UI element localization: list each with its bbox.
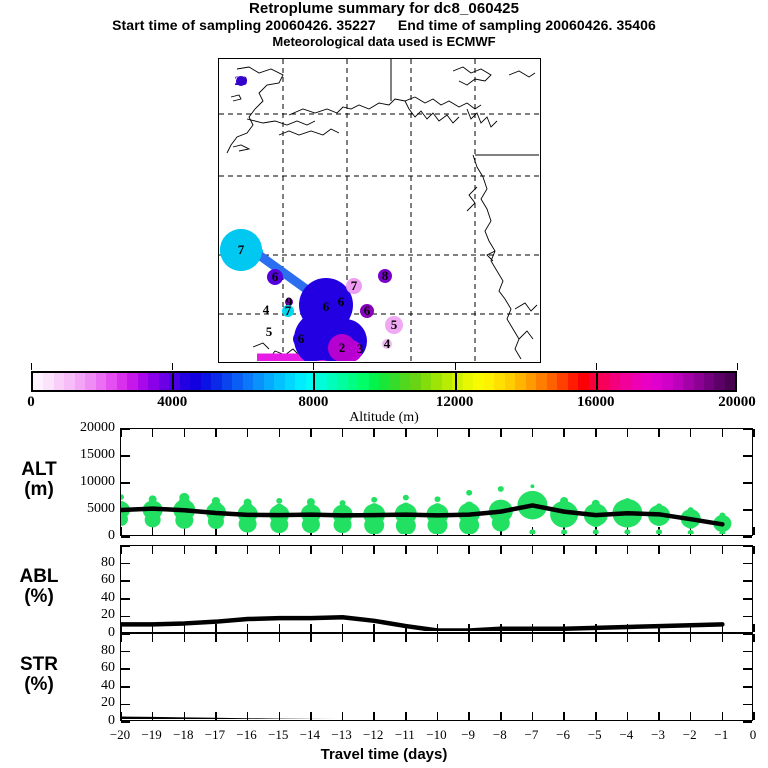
colorbar-swatch: [106, 373, 116, 390]
colorbar-swatch: [389, 373, 399, 390]
x-tick-label: −1: [714, 727, 728, 743]
colorbar-tick-label: 16000: [577, 394, 615, 411]
y-tick: [121, 536, 130, 538]
colorbar-swatch: [96, 373, 106, 390]
x-tick-label: −11: [395, 727, 415, 743]
colorbar-swatch: [421, 373, 431, 390]
alt-scatter-point: [656, 529, 662, 534]
colorbar-swatch: [43, 373, 53, 390]
panel-abl[interactable]: [120, 545, 753, 633]
colorbar-swatch: [473, 373, 483, 390]
alt-scatter-point: [530, 484, 534, 488]
x-tick-label: −14: [300, 727, 320, 743]
x-axis-title: Travel time (days): [0, 746, 768, 763]
alt-scatter-point: [276, 498, 282, 504]
panel-name: ABL: [6, 567, 72, 587]
y-tick: [121, 721, 130, 723]
alt-scatter-point: [688, 530, 694, 534]
colorbar-swatch: [442, 373, 452, 390]
alt-scatter-point: [334, 516, 352, 533]
alt-scatter-point: [492, 514, 510, 531]
colorbar-swatch: [704, 373, 714, 390]
header: Retroplume summary for dc8_060425 Start …: [0, 0, 768, 49]
panel-name: STR: [6, 655, 72, 675]
colorbar-swatch: [536, 373, 546, 390]
colorbar-swatch: [694, 373, 704, 390]
x-tick-label: −7: [525, 727, 539, 743]
map-marker-label: 6: [364, 303, 371, 318]
colorbar-swatch: [379, 373, 389, 390]
alt-scatter-point: [270, 516, 288, 533]
x-tick-label: −10: [426, 727, 446, 743]
end-time-label: End time of sampling 20060426. 35406: [398, 17, 656, 33]
y-tick-right: [743, 536, 752, 538]
colorbar-swatch: [264, 373, 274, 390]
colorbar-swatch: [410, 373, 420, 390]
colorbar-swatch: [369, 373, 379, 390]
colorbar-tick: [172, 363, 173, 370]
colorbar-divider: [596, 371, 598, 392]
panel-unit: (m): [6, 480, 72, 500]
colorbar-swatch: [358, 373, 368, 390]
colorbar-swatch: [316, 373, 326, 390]
x-tick: [753, 527, 755, 535]
panel-plot: [121, 429, 751, 534]
colorbar-tick: [737, 363, 738, 370]
y-tick-label: 20: [0, 695, 115, 711]
colorbar-swatch: [505, 373, 515, 390]
map-marker-label: 5: [266, 324, 273, 339]
x-tick-label: −2: [683, 727, 697, 743]
x-tick-label: −4: [619, 727, 633, 743]
map-marker-label: 20: [235, 73, 248, 88]
colorbar-swatch: [159, 373, 169, 390]
panel-alt[interactable]: [120, 428, 753, 536]
colorbar-tick-label: 4000: [157, 394, 187, 411]
colorbar-swatch: [348, 373, 358, 390]
y-tick-label: 20: [0, 607, 115, 623]
colorbar-swatch: [599, 373, 609, 390]
map-marker-label: 4: [384, 336, 391, 351]
panel-plot: [121, 634, 751, 719]
colorbar-swatch: [673, 373, 683, 390]
series-line: [121, 718, 722, 719]
colorbar-swatch: [463, 373, 473, 390]
x-tick-label: 0: [750, 727, 757, 743]
map-marker-label: 7: [238, 242, 245, 257]
alt-scatter-point: [561, 529, 567, 534]
map-marker-label: 6: [272, 269, 279, 284]
series-line: [121, 617, 722, 630]
x-tick-label: −17: [205, 727, 225, 743]
colorbar-tick: [313, 363, 314, 370]
map-marker-label: 6: [338, 294, 345, 309]
colorbar-swatch: [75, 373, 85, 390]
colorbar-swatch: [610, 373, 620, 390]
map-marker-label: 5: [391, 317, 398, 332]
alt-scatter-point: [364, 516, 384, 534]
colorbar-tick: [596, 363, 597, 370]
panel-name: ALT: [6, 460, 72, 480]
alt-scatter-point: [239, 515, 257, 532]
colorbar-swatch: [484, 373, 494, 390]
retroplume-map[interactable]: 2076974566876546321: [218, 58, 541, 363]
colorbar-swatch: [662, 373, 672, 390]
map-marker-label: 6: [323, 299, 330, 314]
y-tick-right: [743, 721, 752, 723]
colorbar-swatch: [274, 373, 284, 390]
alt-scatter-point: [529, 529, 535, 534]
altitude-colorbar: [31, 371, 737, 392]
x-tick-label: −16: [236, 727, 256, 743]
x-tick-label: −18: [173, 727, 193, 743]
colorbar-swatch: [64, 373, 74, 390]
y-tick-label: 5000: [0, 501, 115, 517]
colorbar-divider: [172, 371, 174, 392]
map-marker-label: 4: [263, 302, 270, 317]
colorbar-swatch: [138, 373, 148, 390]
map-marker-label: 2: [339, 340, 346, 355]
colorbar-swatch: [222, 373, 232, 390]
colorbar-swatch: [568, 373, 578, 390]
y-tick-label: 0: [0, 625, 115, 641]
alt-scatter-point: [593, 529, 599, 534]
alt-scatter-point: [208, 514, 224, 529]
alt-scatter-point: [428, 516, 448, 534]
colorbar-swatch: [400, 373, 410, 390]
colorbar-swatch: [148, 373, 158, 390]
alt-scatter-point: [371, 497, 377, 503]
alt-scatter-point: [435, 496, 441, 502]
panel-label-str: STR(%): [6, 655, 72, 695]
colorbar-swatch: [631, 373, 641, 390]
colorbar-swatch: [725, 373, 735, 390]
y-tick-label: 0: [0, 528, 115, 544]
colorbar-swatch: [201, 373, 211, 390]
colorbar-swatch: [547, 373, 557, 390]
colorbar-swatch: [295, 373, 305, 390]
colorbar-tick-label: 12000: [436, 394, 474, 411]
colorbar-swatch: [714, 373, 724, 390]
colorbar-title: Altitude (m): [0, 410, 768, 426]
colorbar-swatch: [117, 373, 127, 390]
colorbar-swatch: [494, 373, 504, 390]
map-marker-label: 8: [382, 268, 389, 283]
colorbar-swatch: [683, 373, 693, 390]
alt-scatter-point: [145, 512, 161, 527]
x-tick-top: [753, 429, 755, 437]
colorbar-swatch: [327, 373, 337, 390]
panel-unit: (%): [6, 675, 72, 695]
alt-scatter-point: [403, 495, 409, 501]
colorbar-swatch: [337, 373, 347, 390]
x-tick: [753, 624, 755, 632]
colorbar-swatch: [180, 373, 190, 390]
colorbar-divider: [313, 371, 315, 392]
alt-scatter-point: [175, 512, 193, 529]
colorbar-swatch: [33, 373, 43, 390]
panel-label-alt: ALT(m): [6, 460, 72, 500]
colorbar-tick-label: 0: [27, 394, 35, 411]
met-data-label: Meteorological data used is ECMWF: [0, 34, 768, 49]
alt-scatter-point: [466, 490, 472, 496]
panel-label-abl: ABL(%): [6, 567, 72, 607]
colorbar-swatch: [253, 373, 263, 390]
colorbar-swatch: [211, 373, 221, 390]
x-tick-label: −6: [556, 727, 570, 743]
colorbar-swatch: [431, 373, 441, 390]
page-title: Retroplume summary for dc8_060425: [0, 0, 768, 17]
colorbar-swatch: [557, 373, 567, 390]
panel-str[interactable]: [120, 633, 753, 721]
colorbar-swatch: [641, 373, 651, 390]
x-tick-label: −20: [110, 727, 130, 743]
x-tick-label: −5: [588, 727, 602, 743]
colorbar-tick-label: 20000: [718, 394, 756, 411]
x-tick-top: [753, 546, 755, 554]
panel-unit: (%): [6, 587, 72, 607]
alt-scatter-point: [302, 516, 320, 533]
colorbar-swatch: [127, 373, 137, 390]
alt-scatter-point: [498, 486, 504, 492]
y-tick-label: 20000: [0, 420, 115, 436]
alt-scatter-point: [624, 529, 630, 534]
y-tick-label: 0: [0, 713, 115, 729]
colorbar-tick: [455, 363, 456, 370]
alt-scatter-point: [459, 516, 479, 534]
colorbar-swatch: [620, 373, 630, 390]
x-tick-label: −19: [141, 727, 161, 743]
colorbar-swatch: [578, 373, 588, 390]
x-tick-label: −12: [363, 727, 383, 743]
map-marker-label: 7: [285, 303, 292, 318]
alt-scatter-point: [121, 494, 124, 500]
colorbar-swatch: [515, 373, 525, 390]
x-tick-label: −13: [331, 727, 351, 743]
panel-plot: [121, 546, 751, 631]
x-tick-top: [753, 634, 755, 642]
colorbar-swatch: [652, 373, 662, 390]
start-time-label: Start time of sampling 20060426. 35227: [112, 17, 376, 33]
x-tick-label: −3: [651, 727, 665, 743]
colorbar-swatch: [526, 373, 536, 390]
colorbar-swatch: [54, 373, 64, 390]
colorbar-swatch: [190, 373, 200, 390]
map-marker-label: 6: [298, 331, 305, 346]
map-marker-label: 7: [351, 278, 358, 293]
colorbar-divider: [455, 371, 457, 392]
map-marker-label: 3: [357, 341, 364, 356]
colorbar-swatch: [232, 373, 242, 390]
colorbar-swatch: [243, 373, 253, 390]
x-tick-label: −9: [461, 727, 475, 743]
map-canvas: 2076974566876546321: [219, 59, 539, 361]
colorbar-tick: [31, 363, 32, 370]
x-tick-label: −15: [268, 727, 288, 743]
x-tick: [753, 712, 755, 720]
colorbar-tick-label: 8000: [298, 394, 328, 411]
colorbar-swatch: [285, 373, 295, 390]
colorbar-swatch: [85, 373, 95, 390]
x-tick-label: −8: [493, 727, 507, 743]
sampling-times: Start time of sampling 20060426. 35227En…: [0, 17, 768, 34]
colorbar-swatch: [169, 373, 179, 390]
